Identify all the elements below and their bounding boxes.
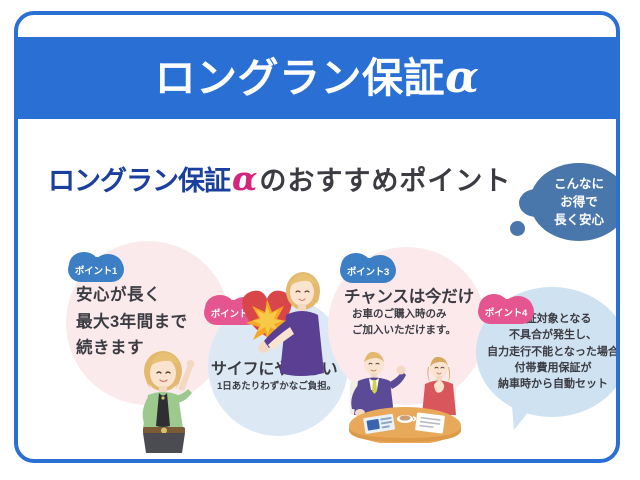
thought-bubble-line-2: お得で: [560, 193, 598, 211]
subtitle-tail: のおすすめポイント: [259, 166, 511, 196]
thought-bubble-line-3: 長く安心: [554, 211, 604, 229]
woman-pointing-up-illustration: [130, 345, 206, 455]
point-1-badge: ポイント1: [68, 257, 124, 282]
poster-frame: ロングラン保証α ロングラン保証αのおすすめポイント こんなに お得で 長く安心…: [14, 11, 620, 463]
point-4-line-5: 納車時から自動セット: [480, 376, 620, 392]
point-1-line-2: 最大3年間まで: [76, 309, 188, 336]
thought-bubble: こんなに お得で 長く安心: [530, 163, 620, 241]
header-title-main: ロングラン保証: [155, 55, 446, 101]
point-3-badge-label: ポイント3: [347, 264, 389, 278]
point-3-subtext-line-1: お車のご購入時のみ: [352, 307, 456, 323]
point-4-line-4: 付帯費用保証が: [480, 360, 620, 376]
point-1-badge-label: ポイント1: [75, 263, 117, 277]
point-1-line-1: 安心が長く: [76, 282, 188, 309]
point-4-badge: ポイント4: [478, 299, 534, 324]
header-title-alpha: α: [445, 52, 479, 103]
salesman-and-customer-at-table-illustration: [338, 351, 472, 443]
point-3-subtext-line-2: ご加入いただけます。: [352, 323, 456, 339]
point-3-subtext: お車のご購入時のみ ご加入いただけます。: [352, 307, 456, 339]
thought-bubble-line-1: こんなに: [554, 175, 604, 193]
subtitle-brand: ロングラン保証: [48, 166, 230, 196]
promo-poster: ロングラン保証α ロングラン保証αのおすすめポイント こんなに お得で 長く安心…: [0, 0, 640, 480]
subtitle-alpha: α: [230, 159, 259, 198]
header-banner: ロングラン保証α: [18, 37, 616, 119]
point-3-heading: チャンスは今だけ: [344, 283, 474, 307]
point-3-badge: ポイント3: [340, 258, 396, 283]
point-2-subtext: 1日あたりわずかなご負担。: [217, 378, 336, 392]
woman-holding-heart-illustration: [236, 267, 332, 379]
point-4-badge-label: ポイント4: [485, 305, 527, 319]
thought-bubble-dot: [510, 221, 525, 236]
point-4-line-2: 不具合が発生し、: [480, 327, 620, 343]
subtitle: ロングラン保証αのおすすめポイント: [48, 162, 511, 195]
point-4-line-3: 自力走行不能となった場合: [480, 344, 620, 360]
header-title: ロングラン保証α: [155, 56, 480, 100]
point-4-speech-bubble-tail: [505, 399, 535, 433]
